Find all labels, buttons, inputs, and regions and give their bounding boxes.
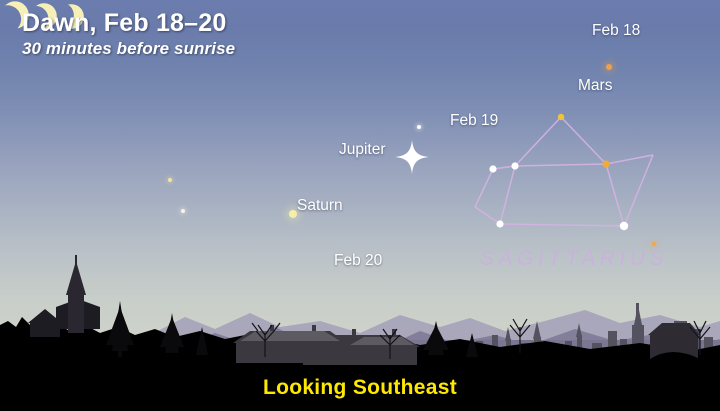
planet-jupiter xyxy=(395,140,429,174)
constellation-star-lid-right-star xyxy=(602,160,609,167)
constellation-star-apex-star xyxy=(558,114,564,120)
title-block: Dawn, Feb 18–20 30 minutes before sunris… xyxy=(22,10,235,59)
constellation-star-lid-left-star xyxy=(511,162,518,169)
caption-bar: Looking Southeast xyxy=(0,365,720,411)
church-steeple xyxy=(66,255,86,333)
feb-19-label: Feb 19 xyxy=(450,112,498,130)
feb-18-label: Feb 18 xyxy=(592,22,640,40)
mars-label: Mars xyxy=(578,77,612,95)
page-subtitle: 30 minutes before sunrise xyxy=(22,39,235,59)
constellation-star-spout-star xyxy=(489,165,496,172)
saturn-label: Saturn xyxy=(297,197,343,215)
constellation-star-base-left-star xyxy=(496,220,503,227)
planet-saturn xyxy=(289,210,297,218)
horizon-landscape xyxy=(0,255,720,375)
jupiter-label: Jupiter xyxy=(339,141,386,159)
page-title: Dawn, Feb 18–20 xyxy=(22,10,235,36)
sky-chart: SAGITTARIUS Feb 18MarsFeb 19JupiterSatur… xyxy=(0,0,720,411)
direction-caption: Looking Southeast xyxy=(263,376,457,400)
feb-20-label: Feb 20 xyxy=(334,252,382,270)
constellation-star-base-right-star xyxy=(620,222,628,230)
